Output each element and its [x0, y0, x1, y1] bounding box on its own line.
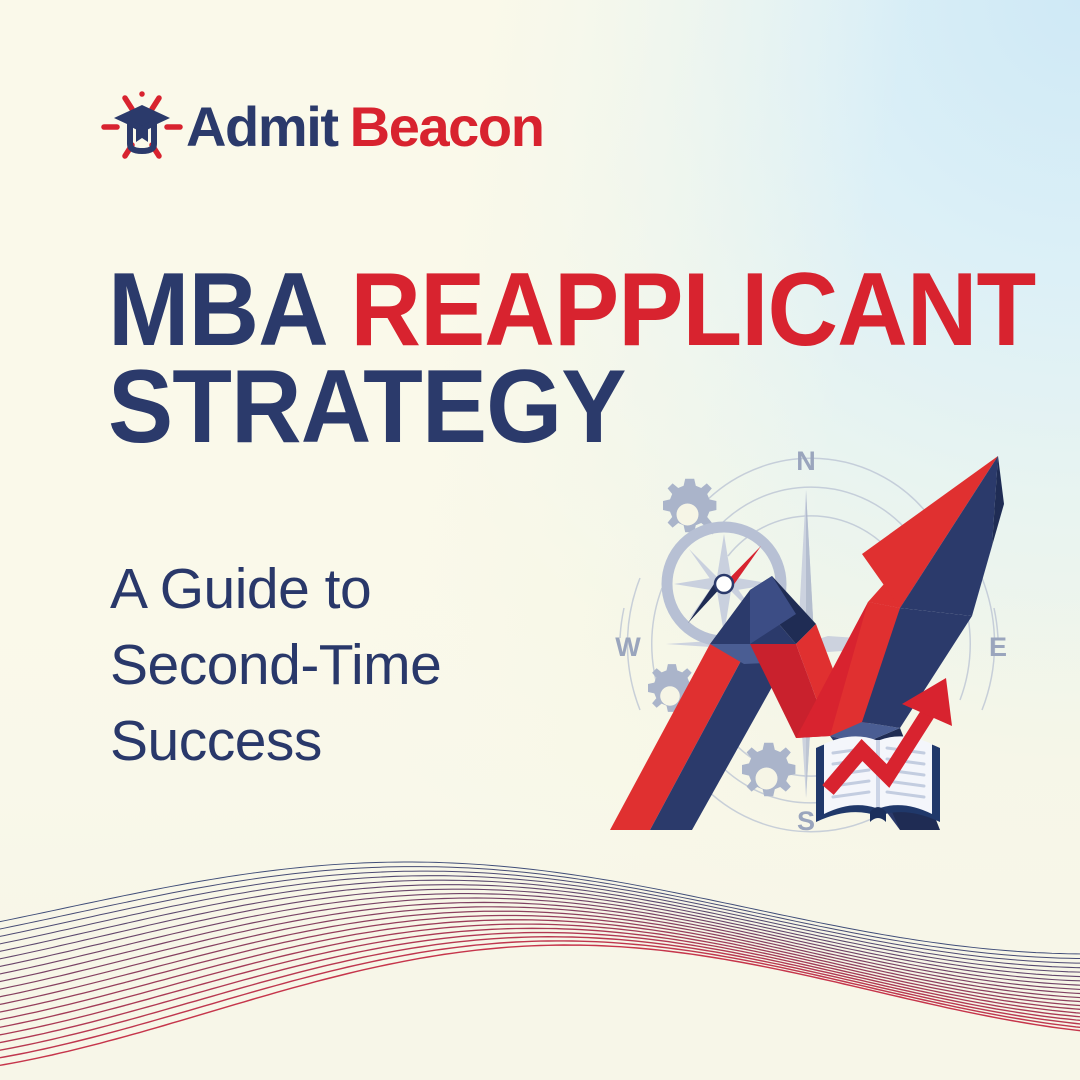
brand-name-secondary: Beacon — [350, 95, 544, 158]
compass-label-west: W — [615, 632, 641, 662]
wave-line — [0, 889, 1080, 981]
brand-logo[interactable]: AdmitBeacon — [100, 86, 544, 168]
brand-name-primary: Admit — [186, 95, 338, 158]
subtitle-line-1: A Guide to — [110, 552, 580, 628]
growth-arrow-compass-book-illustration: N W E S — [600, 438, 1022, 850]
subtitle-line-2: Second-Time — [110, 628, 580, 704]
brand-name: AdmitBeacon — [186, 99, 544, 155]
page-title: MBA REAPPLICANT STRATEGY — [108, 262, 916, 455]
wave-line — [0, 920, 1080, 1024]
compass-label-east: E — [989, 632, 1007, 662]
wave-line — [0, 933, 1080, 1046]
wave-line — [0, 885, 1080, 977]
flowing-wave-lines — [0, 850, 1080, 1080]
subtitle-line-3: Success — [110, 704, 580, 780]
headline-line-1: MBA REAPPLICANT — [108, 262, 916, 359]
compass-label-north: N — [796, 446, 816, 476]
illustration-svg: N W E S — [600, 438, 1022, 850]
page-subtitle: A Guide to Second-Time Success — [110, 552, 580, 779]
poster-canvas: AdmitBeacon MBA REAPPLICANT STRATEGY A G… — [0, 0, 1080, 1080]
compass-pivot — [715, 575, 733, 593]
graduation-cap-beacon-icon — [100, 88, 184, 166]
wave-line — [0, 945, 1080, 1069]
wave-lines-svg — [0, 850, 1080, 1080]
compass-label-south: S — [797, 806, 815, 836]
wave-line — [0, 907, 1080, 1001]
